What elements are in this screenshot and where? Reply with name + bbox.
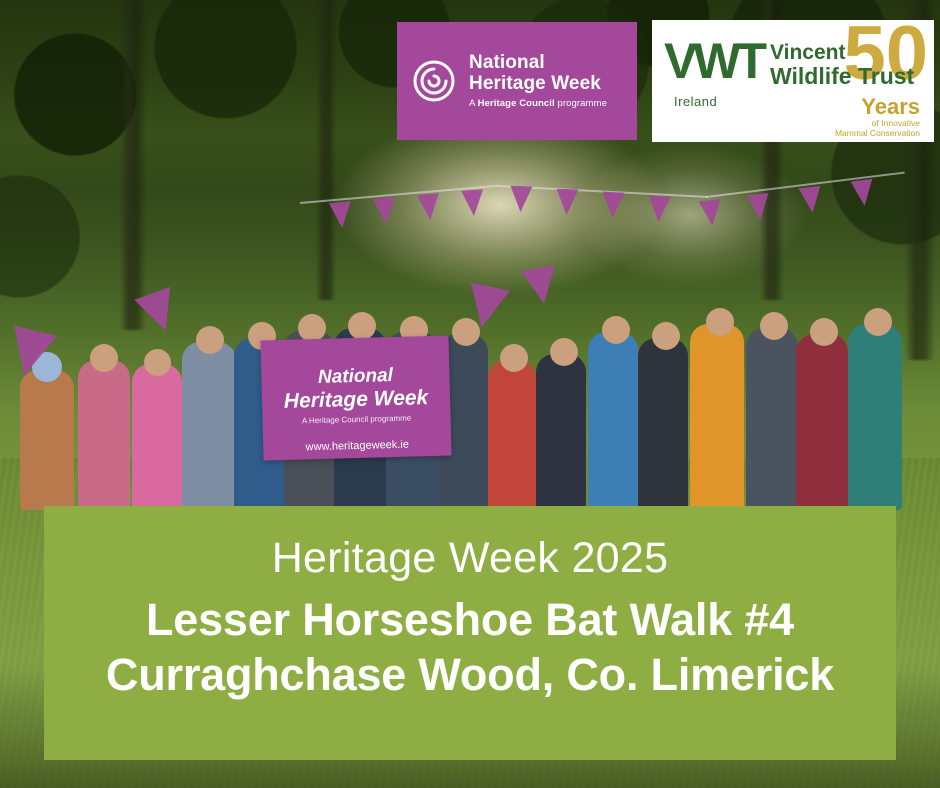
caption-event-location: Curraghchase Wood, Co. Limerick bbox=[44, 648, 896, 703]
vwt-name: Vincent Wildlife Trust bbox=[770, 42, 914, 88]
anniversary-years-label: Years bbox=[861, 96, 920, 118]
event-caption-box: Heritage Week 2025 Lesser Horseshoe Bat … bbox=[44, 506, 896, 760]
vwt-monogram: VWT bbox=[664, 36, 763, 86]
vwt-name-line2: Wildlife Trust bbox=[770, 64, 914, 88]
held-heritage-week-banner: National Heritage Week A Heritage Counci… bbox=[260, 336, 451, 461]
tagline-bold: Heritage Council bbox=[478, 98, 555, 109]
tagline-prefix: A bbox=[469, 98, 478, 109]
caption-event-year: Heritage Week 2025 bbox=[44, 534, 896, 583]
vincent-wildlife-trust-logo: 50 VWT Ireland Vincent Wildlife Trust Ye… bbox=[652, 20, 934, 142]
held-banner-line2: Heritage Week bbox=[262, 386, 451, 415]
spiral-icon bbox=[411, 58, 457, 104]
anniversary-subtitle-line2: Mammal Conservation bbox=[835, 129, 920, 139]
heritage-week-line1: National bbox=[469, 52, 607, 73]
crowd-of-participants bbox=[0, 210, 940, 510]
national-heritage-week-logo: National Heritage Week A Heritage Counci… bbox=[397, 22, 637, 140]
heritage-week-wordmark: National Heritage Week A Heritage Counci… bbox=[469, 52, 607, 110]
vwt-name-line1: Vincent bbox=[770, 42, 914, 64]
event-poster: National Heritage Week A Heritage Counci… bbox=[0, 0, 940, 788]
held-banner-line3: A Heritage Council programme bbox=[262, 413, 450, 427]
heritage-week-tagline: A Heritage Council programme bbox=[469, 99, 607, 110]
heritage-week-line2: Heritage Week bbox=[469, 73, 607, 94]
tagline-suffix: programme bbox=[555, 98, 607, 109]
anniversary-subtitle: of Innovative Mammal Conservation bbox=[835, 119, 920, 139]
caption-event-title: Lesser Horseshoe Bat Walk #4 bbox=[44, 593, 896, 648]
held-banner-url: www.heritageweek.ie bbox=[263, 438, 451, 455]
vwt-region-label: Ireland bbox=[674, 94, 717, 109]
